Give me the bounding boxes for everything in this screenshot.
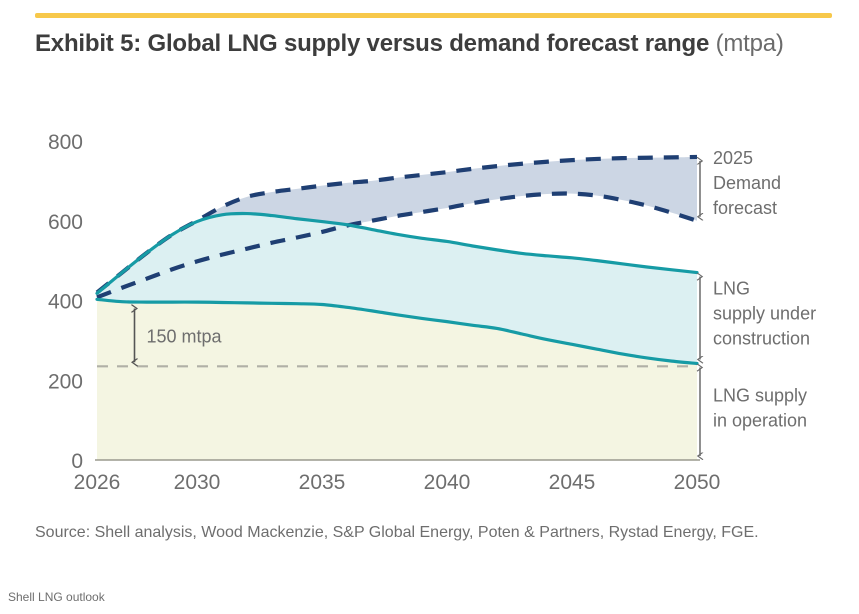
- demand-label-line1: 2025: [713, 148, 753, 168]
- demand-forecast-annotation: 2025 Demand forecast: [700, 148, 781, 218]
- under-construction-label-line2: supply under: [713, 304, 816, 324]
- y-tick-label: 800: [48, 131, 83, 154]
- demand-label-line3: forecast: [713, 198, 777, 218]
- under-construction-label-line3: construction: [713, 329, 810, 349]
- x-axis-tick-labels: 202620302035204020452050: [74, 471, 721, 494]
- x-tick-label: 2030: [174, 471, 221, 494]
- y-axis-tick-labels: 0200400600800: [48, 131, 83, 473]
- in-operation-label-line2: in operation: [713, 411, 807, 431]
- y-tick-label: 600: [48, 211, 83, 234]
- under-construction-annotation: LNG supply under construction: [700, 277, 816, 360]
- x-tick-label: 2035: [299, 471, 346, 494]
- x-tick-label: 2045: [549, 471, 596, 494]
- title-main-text: Exhibit 5: Global LNG supply versus dema…: [35, 30, 709, 57]
- page-footer-note: Shell LNG outlook: [8, 590, 105, 604]
- y-tick-label: 400: [48, 291, 83, 314]
- top-accent-rule: [35, 13, 832, 18]
- x-tick-label: 2040: [424, 471, 471, 494]
- under-construction-label-line1: LNG: [713, 279, 750, 299]
- y-tick-label: 0: [71, 450, 83, 473]
- y-tick-label: 200: [48, 370, 83, 393]
- in-operation-label-line1: LNG supply: [713, 386, 807, 406]
- chart-fills: [97, 157, 697, 460]
- title-unit-text: (mtpa): [709, 30, 784, 57]
- exhibit-figure: Exhibit 5: Global LNG supply versus dema…: [0, 0, 859, 614]
- in-operation-annotation: LNG supply in operation: [700, 368, 807, 456]
- lng-supply-demand-chart: 0200400600800 202620302035204020452050 1…: [0, 110, 859, 510]
- demand-label-line2: Demand: [713, 173, 781, 193]
- source-note: Source: Shell analysis, Wood Mackenzie, …: [35, 521, 795, 544]
- x-tick-label: 2050: [674, 471, 721, 494]
- x-tick-label: 2026: [74, 471, 121, 494]
- chart-canvas: 0200400600800 202620302035204020452050 1…: [0, 110, 859, 510]
- page-title: Exhibit 5: Global LNG supply versus dema…: [35, 28, 805, 60]
- gap-label: 150 mtpa: [147, 326, 223, 346]
